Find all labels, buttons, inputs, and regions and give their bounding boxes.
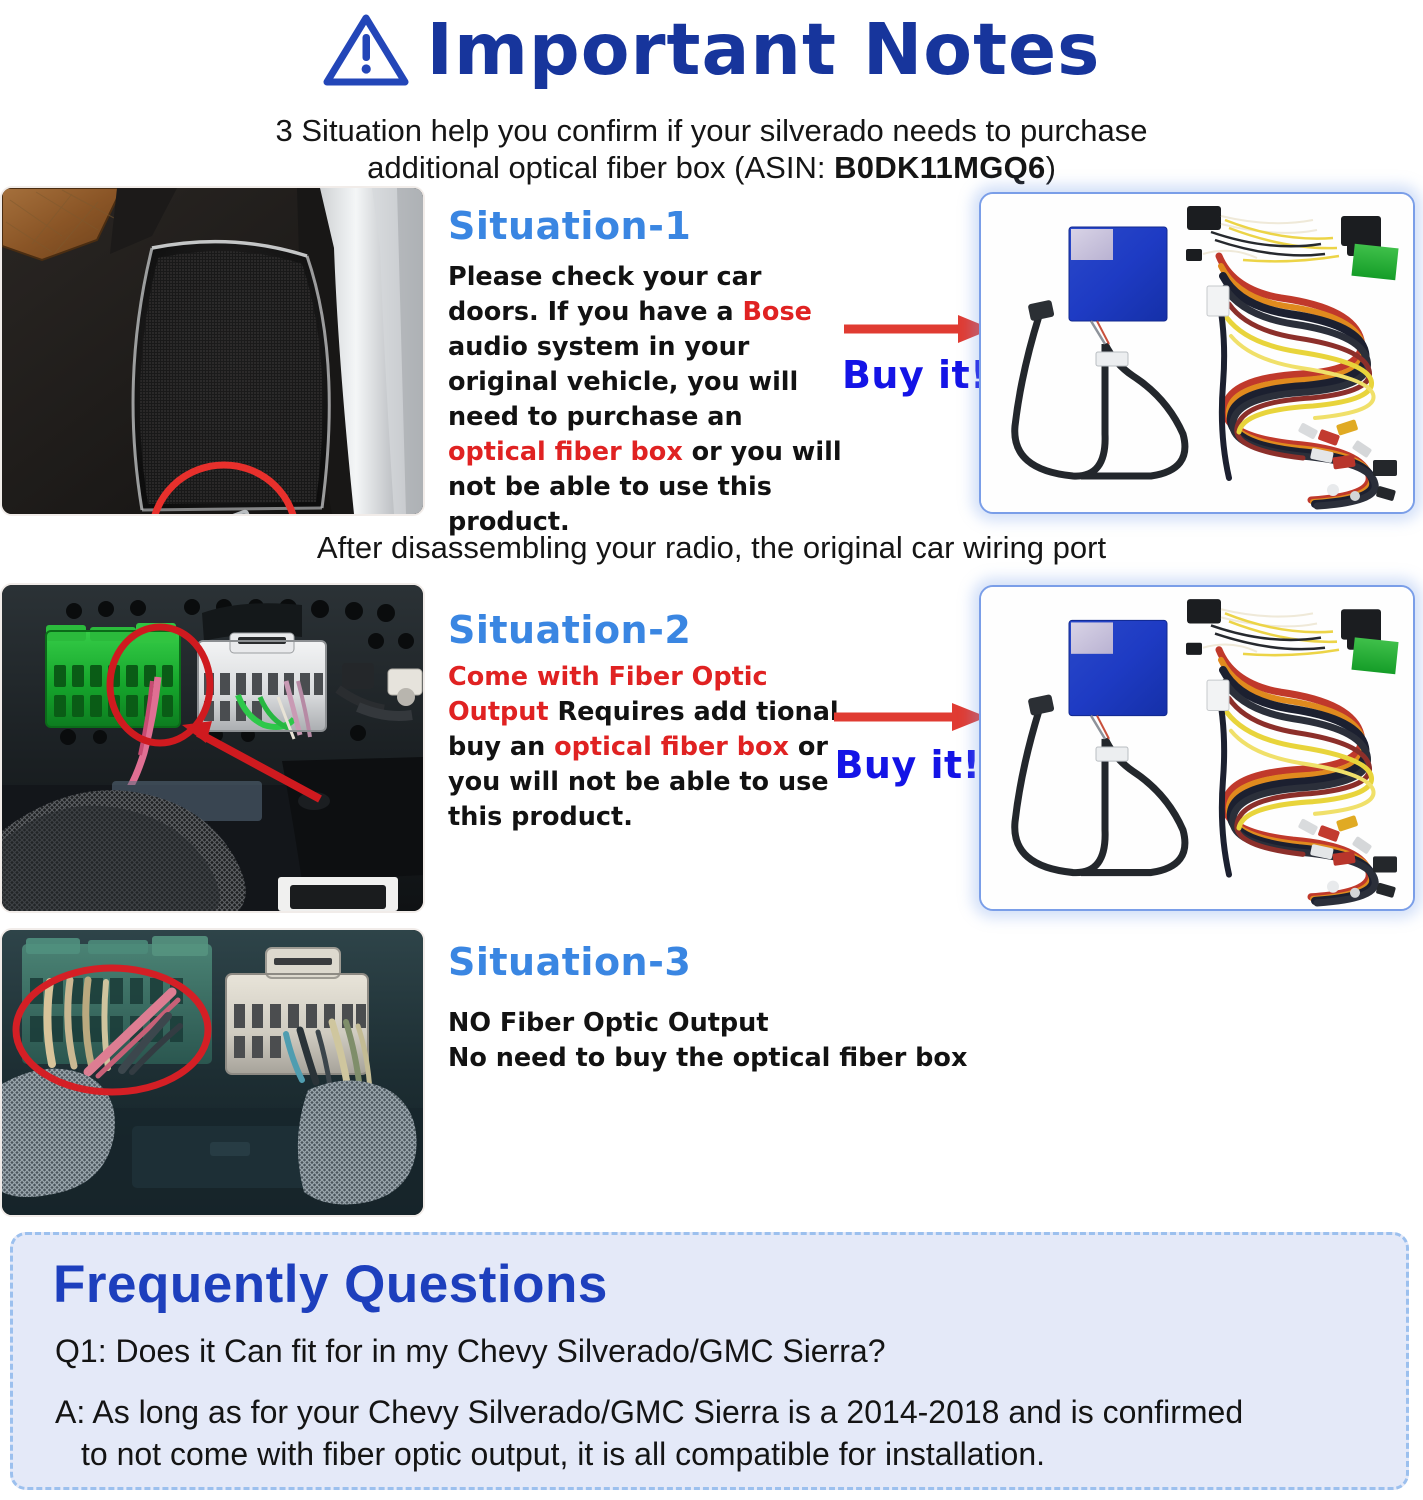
faq-panel: Frequently Questions Q1: Does it Can fit… <box>10 1232 1409 1490</box>
situation-1-heading: Situation-1 <box>448 204 848 248</box>
car-door-bose-speaker-photo: BOSE <box>0 186 425 516</box>
page-title-word-1: Important <box>427 8 837 91</box>
faq-question: Q1: Does it Can fit for in my Chevy Silv… <box>55 1331 1375 1371</box>
title-row: ImportantNotes <box>0 4 1423 96</box>
subtitle-line-2-post: ) <box>1046 150 1056 185</box>
subtitle-colon: : <box>817 150 834 185</box>
subtitle-line-1: 3 Situation help you confirm if your sil… <box>0 112 1423 149</box>
situation-1-seg-3: optical fiber box <box>448 437 683 467</box>
situation-3-body: NO Fiber Optic Output No need to buy the… <box>448 1006 1008 1076</box>
subtitle-line-2: additional optical fiber box (ASIN: B0DK… <box>0 149 1423 186</box>
faq-answer: A: As long as for your Chevy Silverado/G… <box>55 1391 1385 1475</box>
situation-2-buy-label: Buy it! <box>830 744 985 786</box>
situation-3-line-2: No need to buy the optical fiber box <box>448 1041 1008 1076</box>
situation-2-seg-2: optical fiber box <box>554 732 789 762</box>
situation-3-heading: Situation-3 <box>448 940 1008 984</box>
situation-1-buy-label: Buy it! <box>840 354 990 396</box>
situation-1-seg-0: Please check your car doors. If you have… <box>448 262 761 327</box>
situation-2-body: Come with Fiber Optic Output Requires ad… <box>448 660 848 835</box>
page-title: ImportantNotes <box>427 13 1101 87</box>
asin-code: B0DK11MGQ6 <box>834 150 1045 185</box>
situation-3-text-column: Situation-3 NO Fiber Optic Output No nee… <box>448 940 1008 1076</box>
situation-1-seg-2: audio system in your original vehicle, y… <box>448 332 798 432</box>
faq-title: Frequently Questions <box>53 1255 608 1315</box>
situation-1-body: Please check your car doors. If you have… <box>448 260 848 540</box>
situation-2-text-column: Situation-2 Come with Fiber Optic Output… <box>448 608 848 835</box>
warning-triangle-icon <box>323 13 409 87</box>
situation-1-text-column: Situation-1 Please check your car doors.… <box>448 204 848 540</box>
page-title-word-2: Notes <box>863 8 1101 91</box>
faq-answer-line-2: to not come with fiber optic output, it … <box>55 1433 1385 1475</box>
faq-answer-line-1: A: As long as for your Chevy Silverado/G… <box>55 1394 1243 1430</box>
mid-caption: After disassembling your radio, the orig… <box>0 530 1423 566</box>
header: ImportantNotes 3 Situation help you conf… <box>0 0 1423 186</box>
red-arrow-icon <box>840 312 995 346</box>
optical-fiber-box-harness-product-photo-1 <box>979 192 1415 514</box>
situation-1-seg-1: Bose <box>742 297 811 327</box>
radio-wiring-port-green-connector-photo <box>0 583 425 913</box>
radio-wiring-port-no-fiber-photo <box>0 928 425 1217</box>
red-arrow-icon <box>830 700 990 734</box>
subtitle: 3 Situation help you confirm if your sil… <box>0 112 1423 186</box>
situation-2-heading: Situation-2 <box>448 608 848 652</box>
optical-fiber-box-harness-product-photo-2 <box>979 585 1415 911</box>
situation-3-line-1: NO Fiber Optic Output <box>448 1006 1008 1041</box>
subtitle-line-2-pre: additional optical fiber box (ASIN <box>367 150 817 185</box>
